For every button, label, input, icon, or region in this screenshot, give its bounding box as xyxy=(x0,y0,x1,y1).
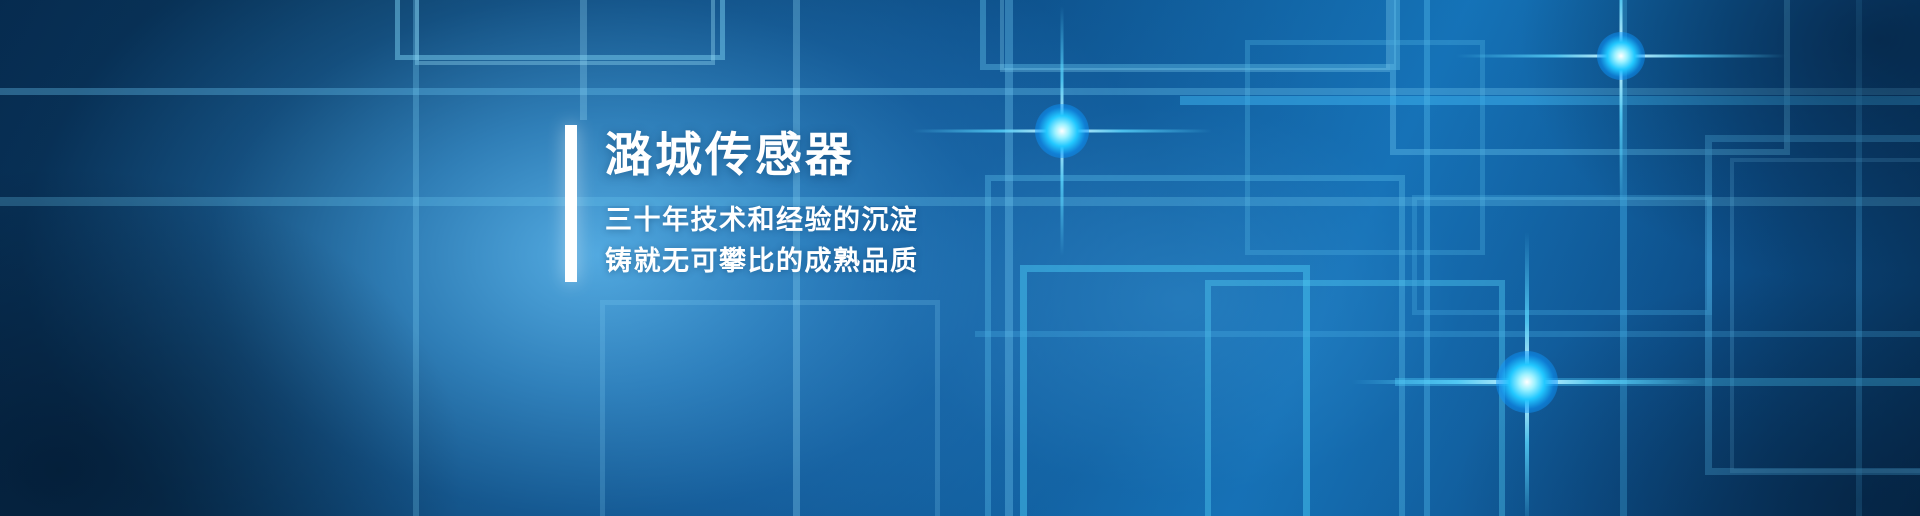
sparkle-vertical-ray xyxy=(1061,6,1064,256)
sparkle-core xyxy=(1035,104,1089,158)
hero-text-block: 潞城传感器 三十年技术和经验的沉淀 铸就无可攀比的成熟品质 xyxy=(565,125,919,282)
hero-subtitle-line-2: 铸就无可攀比的成熟品质 xyxy=(605,241,919,282)
sparkle-vertical-ray xyxy=(1525,232,1529,516)
sparkle-horizontal-ray xyxy=(1352,380,1702,384)
sparkle-core xyxy=(1597,32,1645,80)
sparkle-core xyxy=(1496,351,1558,413)
sparkle-horizontal-ray xyxy=(1456,55,1786,58)
hero-subtitle-line-1: 三十年技术和经验的沉淀 xyxy=(605,200,919,241)
hero-banner: 潞城传感器 三十年技术和经验的沉淀 铸就无可攀比的成熟品质 xyxy=(0,0,1920,516)
sparkle-layer xyxy=(0,0,1920,516)
hero-subtitle: 三十年技术和经验的沉淀 铸就无可攀比的成熟品质 xyxy=(605,200,919,282)
sparkle-horizontal-ray xyxy=(912,130,1212,133)
accent-bar xyxy=(565,125,577,282)
sparkle-vertical-ray xyxy=(1620,0,1623,201)
hero-copy: 潞城传感器 三十年技术和经验的沉淀 铸就无可攀比的成熟品质 xyxy=(577,125,919,282)
page-title: 潞城传感器 xyxy=(605,131,919,178)
